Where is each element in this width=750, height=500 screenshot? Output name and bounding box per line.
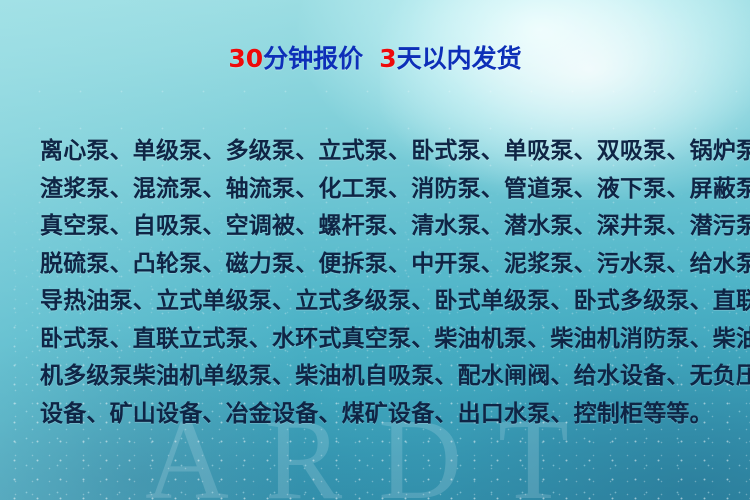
- product-line: 离心泵、单级泵、多级泵、立式泵、卧式泵、单吸泵、双吸泵、锅炉泵: [40, 133, 716, 171]
- headline-quote-label: 分钟报价: [263, 44, 363, 73]
- page-title: 30分钟报价3天以内发货: [0, 46, 750, 71]
- product-line: 渣浆泵、混流泵、轴流泵、化工泵、消防泵、管道泵、液下泵、屏蔽泵: [40, 171, 716, 209]
- headline-quote-minutes: 30: [228, 44, 263, 73]
- product-line: 机多级泵柴油机单级泵、柴油机自吸泵、配水闸阀、给水设备、无负压: [40, 358, 716, 396]
- product-line: 真空泵、自吸泵、空调被、螺杆泵、清水泵、潜水泵、深井泵、潜污泵: [40, 208, 716, 246]
- product-line: 卧式泵、直联立式泵、水环式真空泵、柴油机泵、柴油机消防泵、柴油: [40, 321, 716, 359]
- headline-ship-days: 3: [379, 44, 396, 73]
- product-list: 离心泵、单级泵、多级泵、立式泵、卧式泵、单吸泵、双吸泵、锅炉泵 渣浆泵、混流泵、…: [40, 133, 716, 433]
- product-line: 导热油泵、立式单级泵、立式多级泵、卧式单级泵、卧式多级泵、直联: [40, 283, 716, 321]
- headline-ship-label: 天以内发货: [397, 44, 522, 73]
- product-line: 设备、矿山设备、冶金设备、煤矿设备、出口水泵、控制柜等等。: [40, 396, 716, 434]
- promo-banner: ARDT 30分钟报价3天以内发货 离心泵、单级泵、多级泵、立式泵、卧式泵、单吸…: [0, 0, 750, 500]
- product-line: 脱硫泵、凸轮泵、磁力泵、便拆泵、中开泵、泥浆泵、污水泵、给水泵: [40, 246, 716, 284]
